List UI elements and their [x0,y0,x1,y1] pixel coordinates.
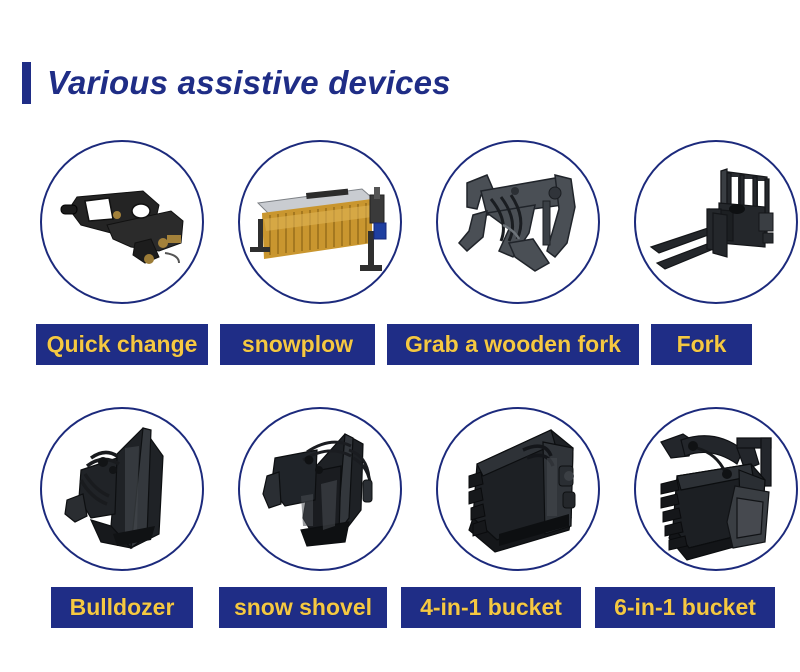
snowplow-sweeper-brush-icon [238,140,402,304]
product-cell-bulldozer[interactable] [40,407,204,571]
product-row-2 [0,407,800,571]
label-row-2: Bulldozer snow shovel 4-in-1 bucket 6-in… [0,587,800,628]
log-grapple-icon [436,140,600,304]
four-in-one-bucket-icon [436,407,600,571]
bulldozer-blade-icon [40,407,204,571]
page-title: Various assistive devices [47,64,451,102]
attachments-catalog-page: Various assistive devices [0,0,800,672]
product-cell-4-in-1-bucket[interactable] [436,407,600,571]
label-snow-shovel[interactable]: snow shovel [219,587,387,628]
label-grab-a-wooden-fork[interactable]: Grab a wooden fork [387,324,639,365]
label-quick-change[interactable]: Quick change [36,324,208,365]
label-row-1: Quick change snowplow Grab a wooden fork… [0,324,800,365]
product-cell-fork[interactable] [634,140,798,304]
six-in-one-bucket-icon [634,407,798,571]
product-row-1 [0,140,800,304]
snow-shovel-blade-icon [238,407,402,571]
quick-change-attachment-icon [40,140,204,304]
product-cell-snow-shovel[interactable] [238,407,402,571]
label-snowplow[interactable]: snowplow [220,324,375,365]
pallet-fork-icon [634,140,798,304]
product-cell-log-grapple[interactable] [436,140,600,304]
product-cell-quick-change[interactable] [40,140,204,304]
label-6-in-1-bucket[interactable]: 6-in-1 bucket [595,587,775,628]
page-header: Various assistive devices [22,62,451,104]
product-cell-snowplow[interactable] [238,140,402,304]
label-fork[interactable]: Fork [651,324,752,365]
label-4-in-1-bucket[interactable]: 4-in-1 bucket [401,587,581,628]
title-accent-bar [22,62,31,104]
label-bulldozer[interactable]: Bulldozer [51,587,193,628]
product-cell-6-in-1-bucket[interactable] [634,407,798,571]
